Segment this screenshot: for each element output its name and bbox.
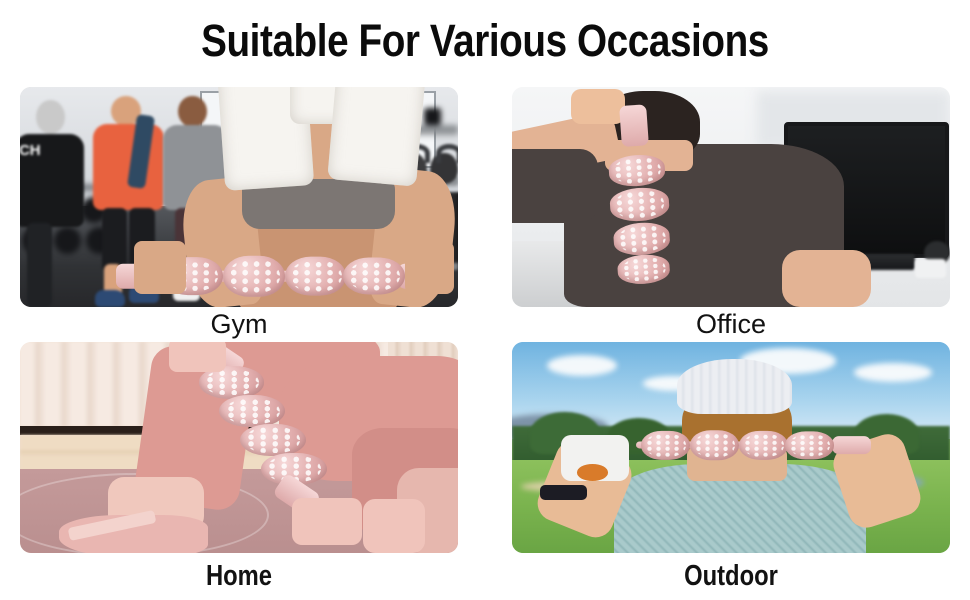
cloud: [547, 355, 617, 376]
caption-office: Office: [512, 309, 950, 339]
outdoor-photo: [512, 342, 950, 553]
massage-roller-stick: [626, 431, 871, 461]
home-photo: [20, 342, 458, 553]
infographic-page: Suitable For Various Occasions: [0, 0, 970, 600]
gym-hand-left: [134, 241, 187, 294]
office-photo: [512, 87, 950, 307]
home-hand-bottom: [292, 498, 362, 544]
gym-hand-right: [405, 241, 453, 294]
page-title: Suitable For Various Occasions: [68, 16, 902, 66]
home-hand-top: [169, 342, 226, 372]
gym-photo: CH: [20, 87, 458, 307]
desk-item: [915, 259, 946, 279]
panel-home[interactable]: [20, 342, 458, 553]
panel-gym[interactable]: CH: [20, 87, 458, 307]
caption-home: Home: [59, 561, 418, 591]
panel-outdoor[interactable]: [512, 342, 950, 553]
panel-office[interactable]: [512, 87, 950, 307]
caption-outdoor: Outdoor: [551, 561, 910, 591]
caption-gym: Gym: [20, 309, 458, 339]
massage-roller-stick: [178, 350, 327, 510]
office-man: [530, 87, 872, 307]
